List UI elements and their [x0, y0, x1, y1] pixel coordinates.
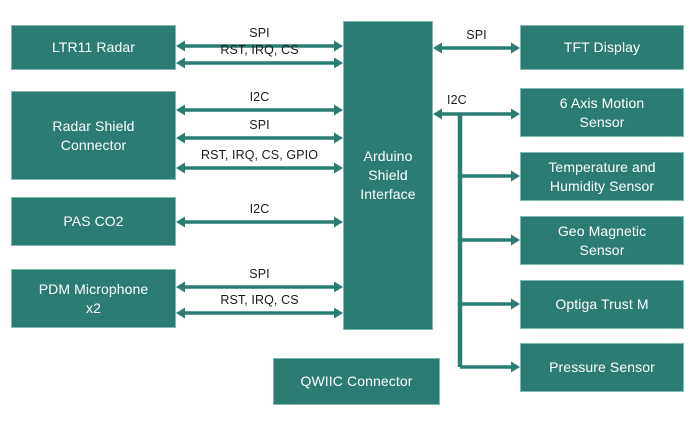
block-optiga-trust-m[interactable]: Optiga Trust M [520, 280, 684, 329]
connector-label-rst-irq-cs: RST, IRQ, CS [176, 43, 343, 57]
block-temperature-and-humidity-sensor[interactable]: Temperature and Humidity Sensor [520, 152, 684, 201]
block-label: 6 Axis Motion Sensor [554, 94, 651, 132]
connector-arrow-rst-irq-cs-gpio-4 [162, 160, 357, 176]
connector-label-spi: SPI [176, 26, 343, 40]
connector-label-spi: SPI [176, 267, 343, 281]
block-label: PDM Microphone x2 [33, 280, 155, 318]
connector-arrow-rst-irq-cs-7 [162, 305, 357, 321]
block-label: Optiga Trust M [549, 295, 654, 314]
connector-arrow-rst-irq-cs-1 [162, 55, 357, 71]
block-pressure-sensor[interactable]: Pressure Sensor [520, 343, 684, 392]
connector-arrow-i2c-2 [162, 102, 357, 118]
connector-arrow-i2c-5 [162, 214, 357, 230]
connector-label-spi: SPI [176, 118, 343, 132]
block-label: Temperature and Humidity Sensor [542, 158, 661, 196]
connector-label-i2c-bus: I2C [447, 93, 467, 107]
connector-arrow-spi-0 [419, 40, 534, 56]
block-label: Arduino Shield Interface [354, 147, 421, 204]
connector-label-rst-irq-cs-gpio: RST, IRQ, CS, GPIO [176, 148, 343, 162]
i2c-bus-trunk [457, 111, 524, 377]
block-diagram-canvas: Arduino Shield Interface LTR11 RadarRada… [0, 0, 700, 421]
block-radar-shield-connector[interactable]: Radar Shield Connector [11, 91, 176, 180]
block-pdm-microphone-x2[interactable]: PDM Microphone x2 [11, 269, 176, 328]
block-tft-display[interactable]: TFT Display [520, 25, 684, 70]
block-label: QWIIC Connector [295, 372, 419, 391]
block-label: TFT Display [558, 38, 646, 57]
block-label: Pressure Sensor [543, 358, 661, 377]
block-geo-magnetic-sensor[interactable]: Geo Magnetic Sensor [520, 216, 684, 265]
connector-arrow-spi-3 [162, 130, 357, 146]
block-label: Radar Shield Connector [46, 117, 140, 155]
connector-label-rst-irq-cs: RST, IRQ, CS [176, 293, 343, 307]
block-label: PAS CO2 [57, 212, 129, 231]
connector-label-spi: SPI [433, 28, 520, 42]
block-label: LTR11 Radar [46, 38, 141, 57]
block-ltr11-radar[interactable]: LTR11 Radar [11, 25, 176, 70]
block-qwiic-connector[interactable]: QWIIC Connector [273, 358, 440, 405]
block-6-axis-motion-sensor[interactable]: 6 Axis Motion Sensor [520, 88, 684, 137]
connector-label-i2c: I2C [176, 202, 343, 216]
block-label: Geo Magnetic Sensor [552, 222, 652, 260]
connector-label-i2c: I2C [176, 90, 343, 104]
block-pas-co2[interactable]: PAS CO2 [11, 197, 176, 246]
